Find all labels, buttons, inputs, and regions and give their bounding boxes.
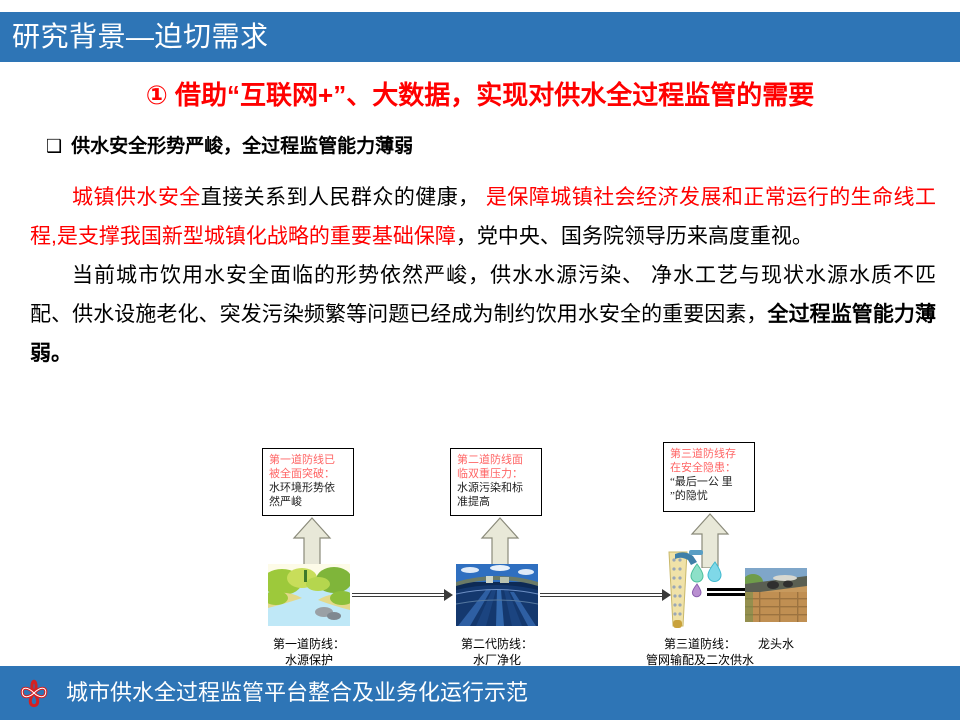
callout-third-line-text: “最后一公 里 ”的隐忧 bbox=[670, 475, 748, 503]
callout-third-line-highlight: 第三道防线存 在安全隐患： bbox=[670, 447, 748, 475]
p1-run-black-2: ，党中央、国务院领导历来高度重视。 bbox=[456, 225, 813, 248]
callout-first-line-text: 水环境形势依 然严峻 bbox=[269, 481, 347, 509]
defense-lines-diagram: 第一道防线已 被全面突破： 水环境形势依 然严峻 第二道防线面 临双重压力： 水… bbox=[0, 440, 960, 670]
square-bullet-icon: ❑ bbox=[46, 136, 62, 158]
sub-heading-label: 供水安全形势严峻，全过程监管能力薄弱 bbox=[71, 136, 413, 157]
body-text: 城镇供水安全直接关系到人民群众的健康， 是保障城镇社会经济发展和正常运行的生命线… bbox=[30, 178, 936, 373]
p1-run-black-1: 直接关系到人民群众的健康， bbox=[201, 186, 480, 209]
slide-header-bar: 研究背景—迫切需求 bbox=[0, 12, 960, 62]
slide-footer-bar: 城市供水全过程监管平台整合及业务化运行示范 bbox=[0, 666, 960, 720]
water-treatment-plant-photo bbox=[456, 564, 538, 626]
flow-arrow-1 bbox=[352, 592, 452, 598]
building-wall-photo bbox=[745, 568, 807, 622]
callout-first-line: 第一道防线已 被全面突破： 水环境形势依 然严峻 bbox=[262, 448, 354, 516]
callout-first-line-highlight: 第一道防线已 被全面突破： bbox=[269, 453, 347, 481]
stage-water-plant-caption: 第二代防线： 水厂净化 bbox=[436, 636, 558, 668]
footer-title: 城市供水全过程监管平台整合及业务化运行示范 bbox=[66, 682, 528, 704]
water-knot-logo bbox=[16, 675, 52, 711]
paragraph-1: 城镇供水安全直接关系到人民群众的健康， 是保障城镇社会经济发展和正常运行的生命线… bbox=[30, 178, 936, 256]
flow-arrow-2 bbox=[540, 592, 670, 598]
paragraph-2: 当前城市饮用水安全面临的形势依然严峻，供水水源污染、 净水工艺与现状水源水质不匹… bbox=[30, 256, 936, 373]
p1-run-red-1: 城镇供水安全 bbox=[72, 186, 201, 209]
callout-second-line: 第二道防线面 临双重压力： 水源污染和标 准提高 bbox=[450, 448, 542, 516]
sub-heading: ❑供水安全形势严峻，全过程监管能力薄弱 bbox=[46, 136, 413, 159]
callout-third-line: 第三道防线存 在安全隐患： “最后一公 里 ”的隐忧 bbox=[663, 442, 755, 512]
stage-tap-water-caption: 龙头水 bbox=[736, 636, 816, 652]
callout-second-line-text: 水源污染和标 准提高 bbox=[457, 481, 535, 509]
callout-second-line-highlight: 第二道防线面 临双重压力： bbox=[457, 453, 535, 481]
page-title: 研究背景—迫切需求 bbox=[12, 23, 269, 51]
river-landscape-photo bbox=[268, 564, 350, 626]
section-heading: ① 借助“互联网+”、大数据，实现对供水全过程监管的需要 bbox=[0, 80, 960, 111]
stage-source-protection-caption: 第一道防线： 水源保护 bbox=[248, 636, 370, 668]
